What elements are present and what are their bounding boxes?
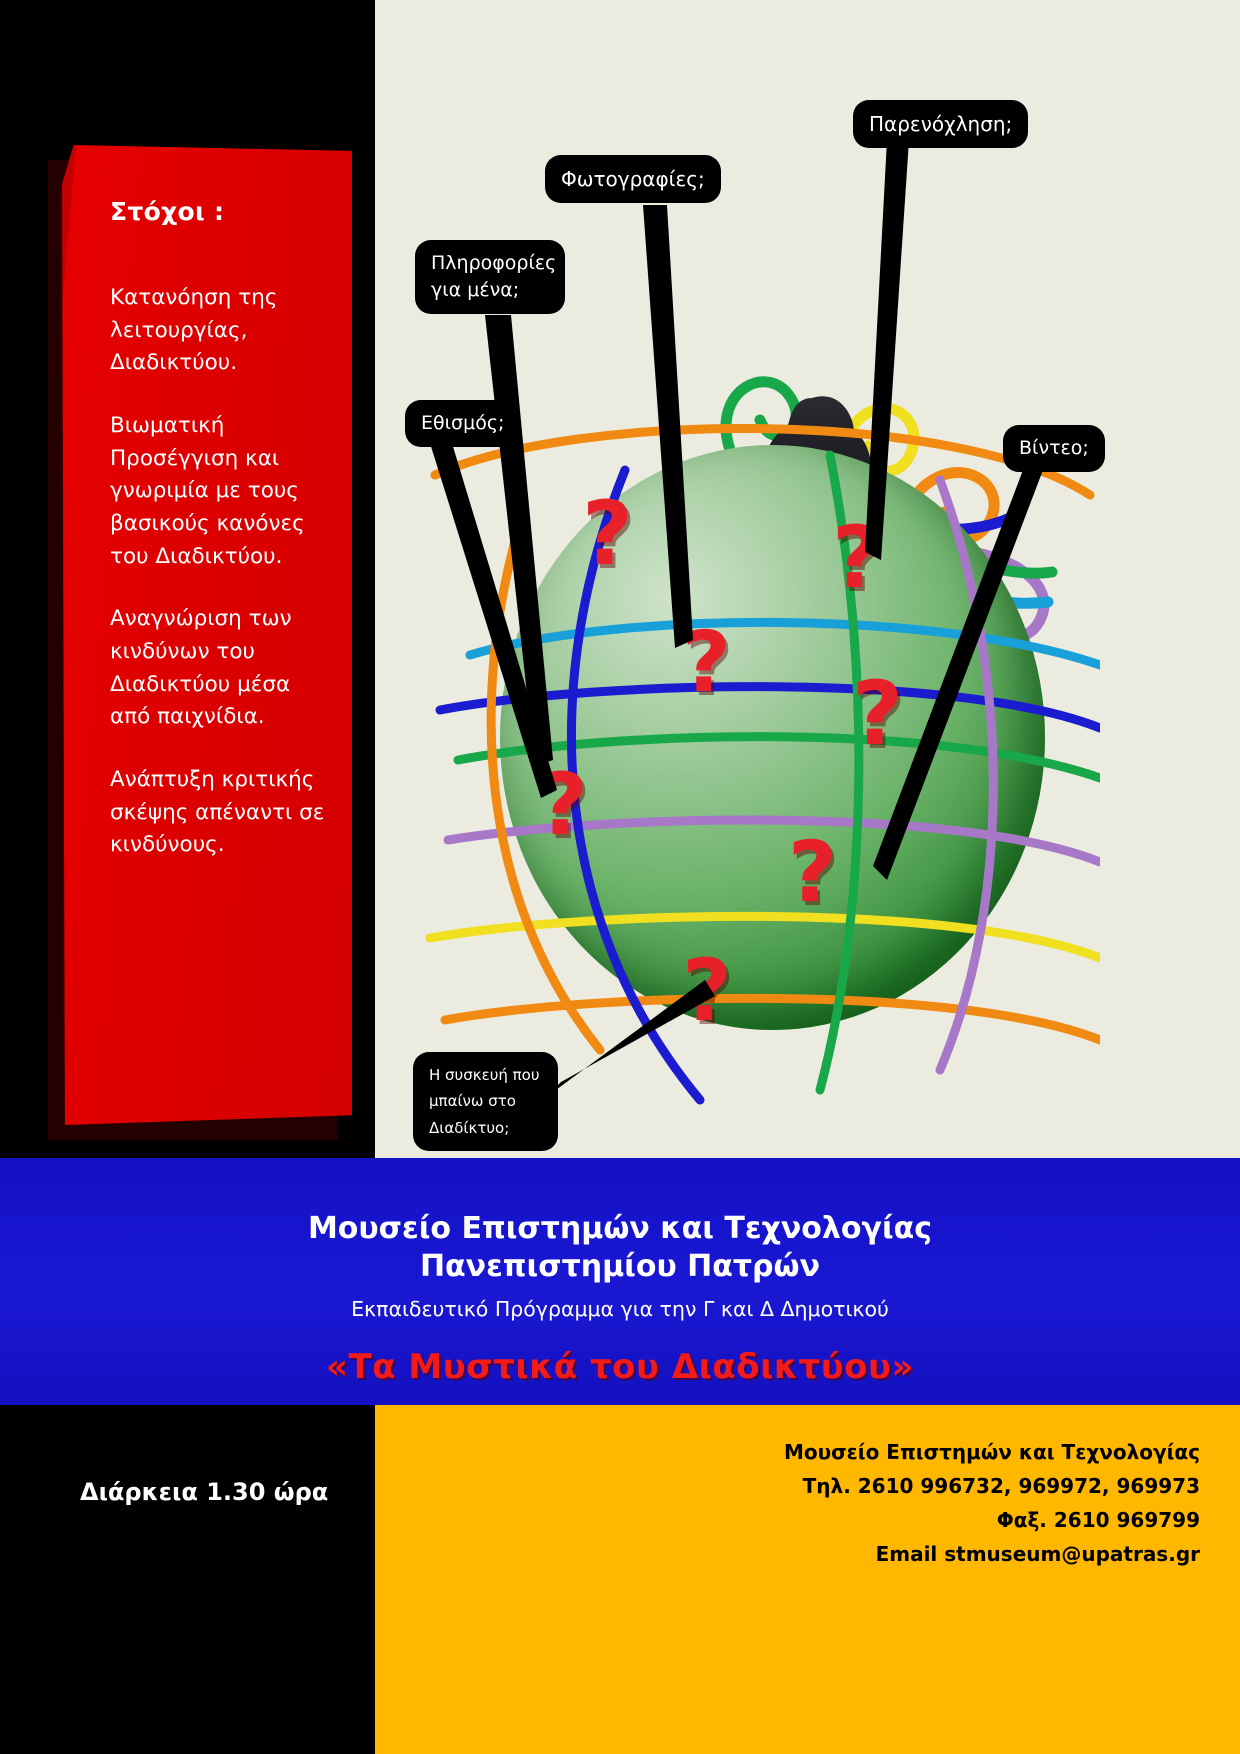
museum-name-line2: Πανεπιστημίου Πατρών <box>0 1248 1240 1286</box>
museum-name-line1: Μουσείο Επιστημών και Τεχνολογίας <box>0 1210 1240 1248</box>
contact-phone: Τηλ. 2610 996732, 969972, 969973 <box>375 1469 1200 1503</box>
contact-museum-name: Μουσείο Επιστημών και Τεχνολογίας <box>375 1435 1200 1469</box>
objectives-title: Στόχοι : <box>110 197 326 226</box>
bubble-harassment[interactable]: Παρενόχληση; <box>853 100 1028 148</box>
contact-fax: Φαξ. 2610 969799 <box>375 1503 1200 1537</box>
footer-black-block <box>0 1405 375 1754</box>
duration-label: Διάρκεια 1.30 ώρα <box>80 1478 328 1506</box>
illustration-panel: ? ? ? ? ? ? ? <box>375 0 1240 1158</box>
contact-email[interactable]: Email stmuseum@upatras.gr <box>375 1537 1200 1571</box>
bubble-pointers <box>375 0 1240 1158</box>
bubble-addiction[interactable]: Εθισμός; <box>405 400 520 447</box>
bubble-info-about-me[interactable]: Πληροφορίες για μένα; <box>415 240 565 314</box>
bubble-photos[interactable]: Φωτογραφίες; <box>545 155 721 203</box>
poster-root: ? ? ? ? ? ? ? <box>0 0 1240 1754</box>
footer-contact-box: Μουσείο Επιστημών και Τεχνολογίας Τηλ. 2… <box>375 1405 1240 1754</box>
objectives-paragraph-1: Κατανόηση της λειτουργίας, Διαδικτύου. <box>110 282 326 380</box>
objectives-box: Στόχοι : Κατανόηση της λειτουργίας, Διαδ… <box>62 145 352 1125</box>
objectives-paragraph-3: Αναγνώριση των κινδύνων του Διαδικτύου μ… <box>110 603 326 734</box>
program-title: «Τα Μυστικά του Διαδικτύου» <box>0 1347 1240 1387</box>
bubble-device[interactable]: Η συσκευή που μπαίνω στο Διαδίκτυο; <box>413 1052 558 1151</box>
objectives-paragraph-4: Ανάπτυξη κριτικής σκέψης απέναντι σε κιν… <box>110 764 326 862</box>
program-subtitle: Εκπαιδευτικό Πρόγραμμα για την Γ και Δ Δ… <box>0 1297 1240 1321</box>
blue-banner: Μουσείο Επιστημών και Τεχνολογίας Πανεπι… <box>0 1158 1240 1405</box>
bubble-video[interactable]: Βίντεο; <box>1003 425 1105 472</box>
objectives-paragraph-2: Βιωματική Προσέγγιση και γνωριμία με του… <box>110 410 326 573</box>
